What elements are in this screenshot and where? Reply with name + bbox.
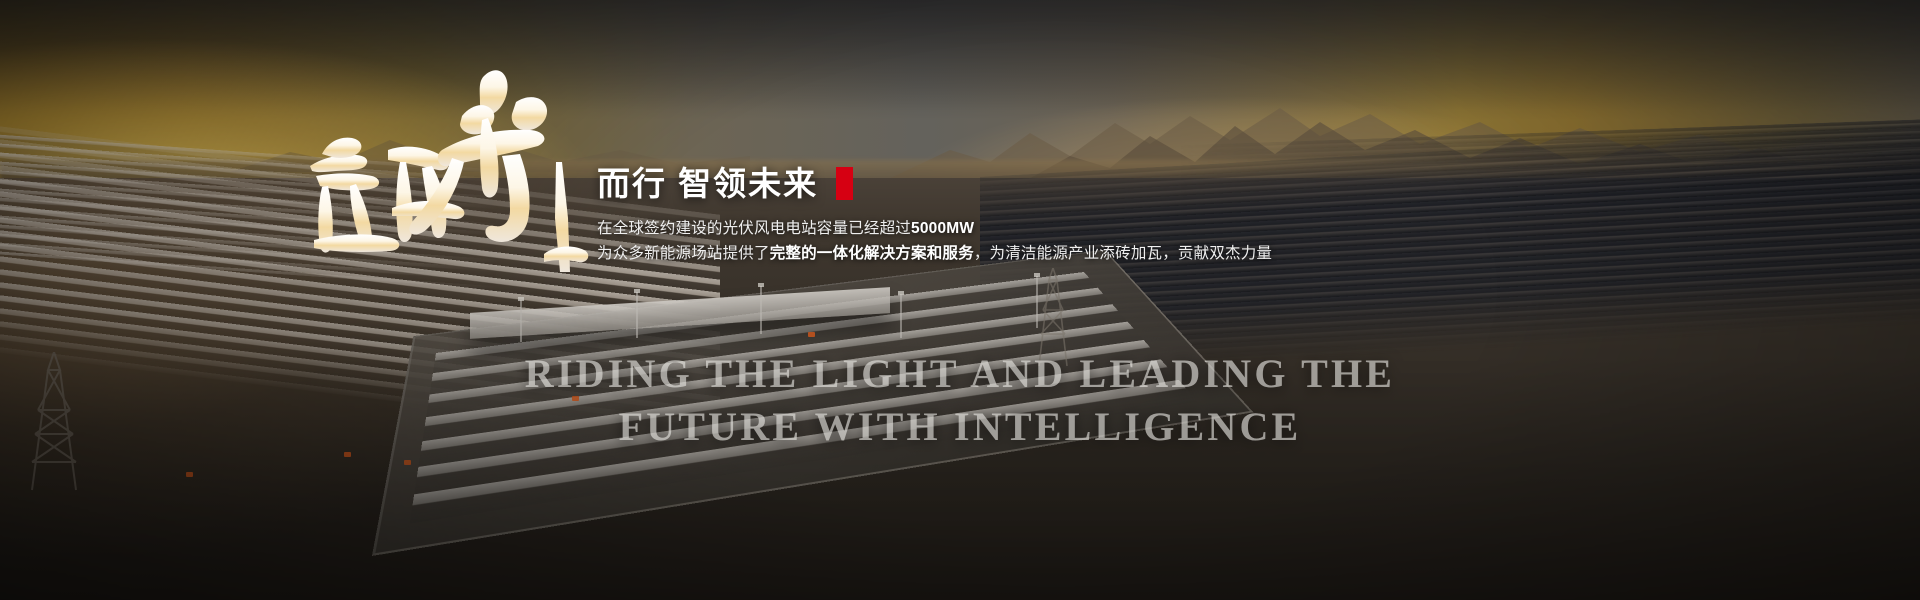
yard-lamp-5	[1036, 276, 1038, 328]
subtitle-line-1: 在全球签约建设的光伏风电电站容量已经超过5000MW	[597, 216, 1357, 241]
ground-marker-3	[404, 460, 411, 465]
subtitle-2-prefix: 为众多新能源场站提供了	[597, 245, 770, 262]
calligraphy-wordmark	[292, 58, 592, 283]
yard-lamp-1	[520, 300, 522, 342]
subtitle-line-2: 为众多新能源场站提供了完整的一体化解决方案和服务，为清洁能源产业添砖加瓦，贡献双…	[597, 241, 1357, 266]
ground-marker-4	[808, 332, 815, 337]
subtitle-2-strong: 完整的一体化解决方案和服务	[770, 245, 974, 262]
ground-marker-5	[572, 396, 579, 401]
subtitle-1-prefix: 在全球签约建设的光伏风电电站容量已经超过	[597, 220, 911, 237]
yard-lamp-4	[900, 294, 902, 338]
ground-marker-1	[186, 472, 193, 477]
hero-copy: 而行 智领未来 在全球签约建设的光伏风电电站容量已经超过5000MW 为众多新能…	[597, 165, 1357, 266]
transmission-pylon-left	[18, 352, 90, 497]
yard-lamp-2	[636, 292, 638, 338]
subtitle-1-strong: 5000MW	[911, 220, 974, 237]
yard-lamp-3	[760, 286, 762, 334]
subtitle-2-suffix: ，为清洁能源产业添砖加瓦，贡献双杰力量	[974, 245, 1272, 262]
hero-subtitle: 在全球签约建设的光伏风电电站容量已经超过5000MW 为众多新能源场站提供了完整…	[597, 216, 1357, 266]
hero-banner: 而行 智领未来 在全球签约建设的光伏风电电站容量已经超过5000MW 为众多新能…	[0, 0, 1920, 600]
page-title: 而行 智领未来	[597, 165, 818, 203]
ground-marker-2	[344, 452, 351, 457]
accent-block	[836, 167, 853, 200]
headline-row: 而行 智领未来	[597, 165, 1357, 203]
